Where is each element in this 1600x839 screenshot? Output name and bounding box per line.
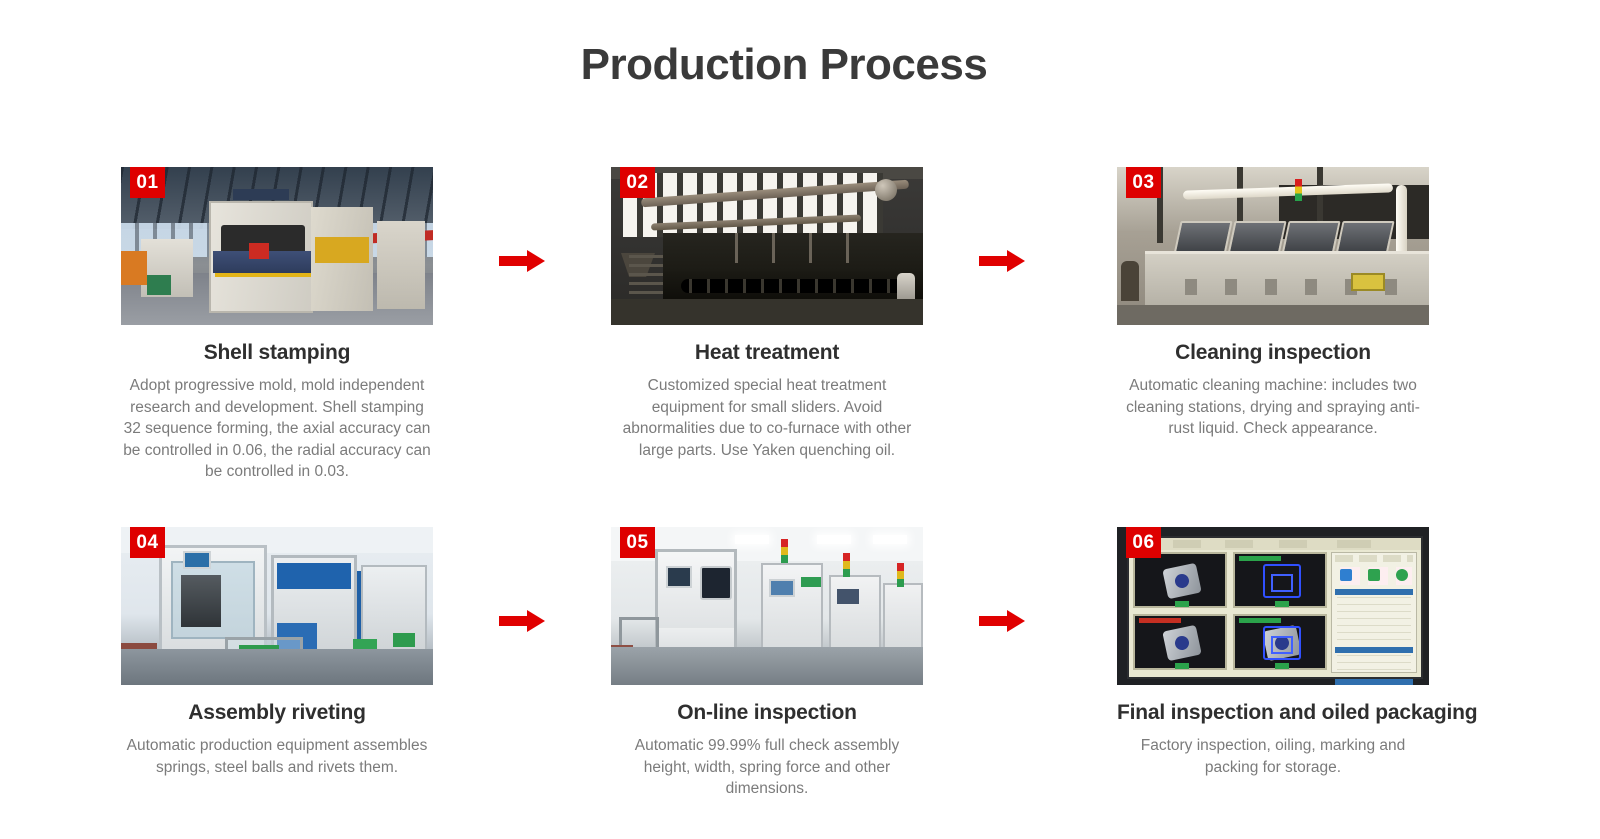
press-nameplate-detail: [233, 189, 289, 200]
camera-view-detail: [1233, 614, 1327, 670]
panel-action-icon: [1396, 569, 1408, 581]
arrow-head-detail: [1007, 250, 1025, 272]
detected-contour-detail: [1263, 564, 1301, 598]
floor-detail: [1117, 305, 1429, 325]
camera-view-detail: [1233, 552, 1327, 608]
cleaning-hood-detail: [1281, 221, 1340, 255]
software-control-panel: [1331, 552, 1417, 673]
cleaning-hood-detail: [1227, 221, 1286, 255]
third-machine-detail: [377, 221, 425, 309]
process-steps-grid: 01 Shell stamping Adopt progressive mold…: [0, 167, 1568, 839]
step-03-photo[interactable]: 03: [1117, 167, 1429, 325]
furnace-hooks-detail: [701, 233, 861, 263]
page-title: Production Process: [0, 40, 1568, 90]
process-row-top: 01 Shell stamping Adopt progressive mold…: [0, 167, 1568, 507]
step-05-title: On-line inspection: [611, 701, 923, 725]
pass-indicator-detail: [1275, 601, 1289, 607]
arrow-head-detail: [527, 610, 545, 632]
step-05-description: Automatic 99.99% full check assembly hei…: [611, 735, 923, 800]
monitor-screen-detail: [1127, 536, 1423, 679]
panel-action-icon: [1368, 569, 1380, 581]
step-06-description: Factory inspection, oiling, marking and …: [1117, 735, 1429, 778]
step-01-title: Shell stamping: [121, 341, 433, 365]
software-tab-detail: [1279, 540, 1307, 548]
view-status-header-detail: [1239, 556, 1281, 561]
step-03-title: Cleaning inspection: [1117, 341, 1429, 365]
software-tab-detail: [1337, 540, 1371, 548]
software-tab-detail: [1173, 540, 1201, 548]
machine-screen-detail: [666, 566, 692, 588]
step-number-badge-06: 06: [1126, 527, 1161, 558]
pass-indicator-detail: [1275, 663, 1289, 669]
stack-light-icon: [897, 563, 904, 587]
second-press-detail: [311, 207, 373, 311]
view-status-header-detail: [1239, 618, 1281, 623]
step-04-title: Assembly riveting: [121, 701, 433, 725]
duct-drum-detail: [875, 179, 897, 201]
step-number-badge-02: 02: [620, 167, 655, 198]
arrow-step-1-to-2: [499, 250, 545, 272]
polished-floor-detail: [121, 649, 433, 685]
step-04-description: Automatic production equipment assembles…: [121, 735, 433, 778]
furnace-floor-detail: [611, 299, 923, 325]
step-01-description: Adopt progressive mold, mold independent…: [121, 375, 433, 483]
green-bin-detail: [393, 633, 415, 647]
machine-screen-detail: [769, 579, 795, 597]
stack-light-icon: [781, 539, 788, 563]
step-04-photo[interactable]: 04: [121, 527, 433, 685]
step-06-photo[interactable]: 06: [1117, 527, 1429, 685]
worker-detail: [1121, 261, 1139, 301]
machine-screen-detail: [837, 589, 859, 604]
arrow-right-icon: [499, 256, 529, 266]
step-number-badge-03: 03: [1126, 167, 1161, 198]
step-05-photo[interactable]: 05: [611, 527, 923, 685]
ceiling-lamp-detail: [735, 535, 769, 544]
camera-view-detail: [1133, 552, 1227, 608]
panel-parameter-rows-detail: [1337, 597, 1411, 643]
process-step-card-06[interactable]: 06 Final inspection and oiled packaging …: [1117, 527, 1429, 778]
step-number-badge-05: 05: [620, 527, 655, 558]
step-01-photo[interactable]: 01: [121, 167, 433, 325]
pass-indicator-detail: [1175, 663, 1189, 669]
panel-section-header-detail: [1335, 589, 1413, 595]
step-02-title: Heat treatment: [611, 341, 923, 365]
arrow-step-2-to-3: [979, 250, 1025, 272]
arrow-right-icon: [979, 256, 1009, 266]
uncoiler-detail: [121, 251, 147, 285]
panel-buttons-detail: [1335, 555, 1413, 562]
riveting-mechanism-detail: [181, 575, 221, 627]
furnace-valves-detail: [681, 279, 911, 293]
arrow-step-5-to-6: [979, 610, 1025, 632]
stack-light-icon: [843, 553, 850, 577]
process-step-card-03[interactable]: 03 Cleaning inspection Automatic cleanin…: [1117, 167, 1429, 440]
machine-window-detail: [700, 566, 732, 600]
camera-views-grid: [1133, 552, 1331, 673]
stack-light-icon: [1295, 179, 1302, 201]
step-03-description: Automatic cleaning machine: includes two…: [1117, 375, 1429, 440]
panel-section-header-detail: [1335, 647, 1413, 653]
software-tab-detail: [1225, 540, 1253, 548]
inspected-part-detail: [1162, 625, 1201, 661]
view-status-header-detail: [1139, 618, 1181, 623]
cleaning-hood-detail: [1173, 221, 1232, 255]
cleaning-hood-detail: [1335, 221, 1394, 255]
pass-indicator-detail: [1175, 601, 1189, 607]
step-02-description: Customized special heat treatment equipm…: [611, 375, 923, 461]
process-step-card-04[interactable]: 04 Assembly riveting Automatic productio…: [121, 527, 433, 778]
ceiling-lamp-detail: [817, 535, 851, 544]
process-step-card-05[interactable]: 05 On-line inspection Automatic 99.99% f…: [611, 527, 923, 800]
hmi-screen-detail: [183, 551, 211, 569]
process-row-bottom: 04 Assembly riveting Automatic productio…: [0, 527, 1568, 839]
green-label-detail: [801, 577, 821, 587]
ceiling-lamp-detail: [873, 535, 907, 544]
arrow-right-icon: [979, 616, 1009, 626]
arrow-head-detail: [527, 250, 545, 272]
production-process-page: Production Process: [0, 0, 1600, 839]
green-bin-detail: [147, 275, 171, 295]
red-die-detail: [249, 243, 269, 259]
arrow-step-4-to-5: [499, 610, 545, 632]
process-step-card-02[interactable]: 02 Heat treatment Customized special hea…: [611, 167, 923, 461]
process-step-card-01[interactable]: 01 Shell stamping Adopt progressive mold…: [121, 167, 433, 483]
step-number-badge-04: 04: [130, 527, 165, 558]
step-02-photo[interactable]: 02: [611, 167, 923, 325]
blue-panel-detail: [277, 563, 351, 589]
inspected-part-detail: [1162, 563, 1201, 599]
step-number-badge-01: 01: [130, 167, 165, 198]
warning-label-detail: [1351, 273, 1385, 291]
polished-floor-detail: [611, 647, 923, 685]
panel-action-icon: [1340, 569, 1352, 581]
step-06-title: Final inspection and oiled packaging: [1117, 701, 1429, 725]
panel-section-header-detail: [1335, 679, 1413, 685]
camera-view-detail: [1133, 614, 1227, 670]
arrow-head-detail: [1007, 610, 1025, 632]
arrow-right-icon: [499, 616, 529, 626]
panel-parameter-rows-detail: [1337, 655, 1411, 675]
detected-contour-detail: [1263, 626, 1301, 660]
